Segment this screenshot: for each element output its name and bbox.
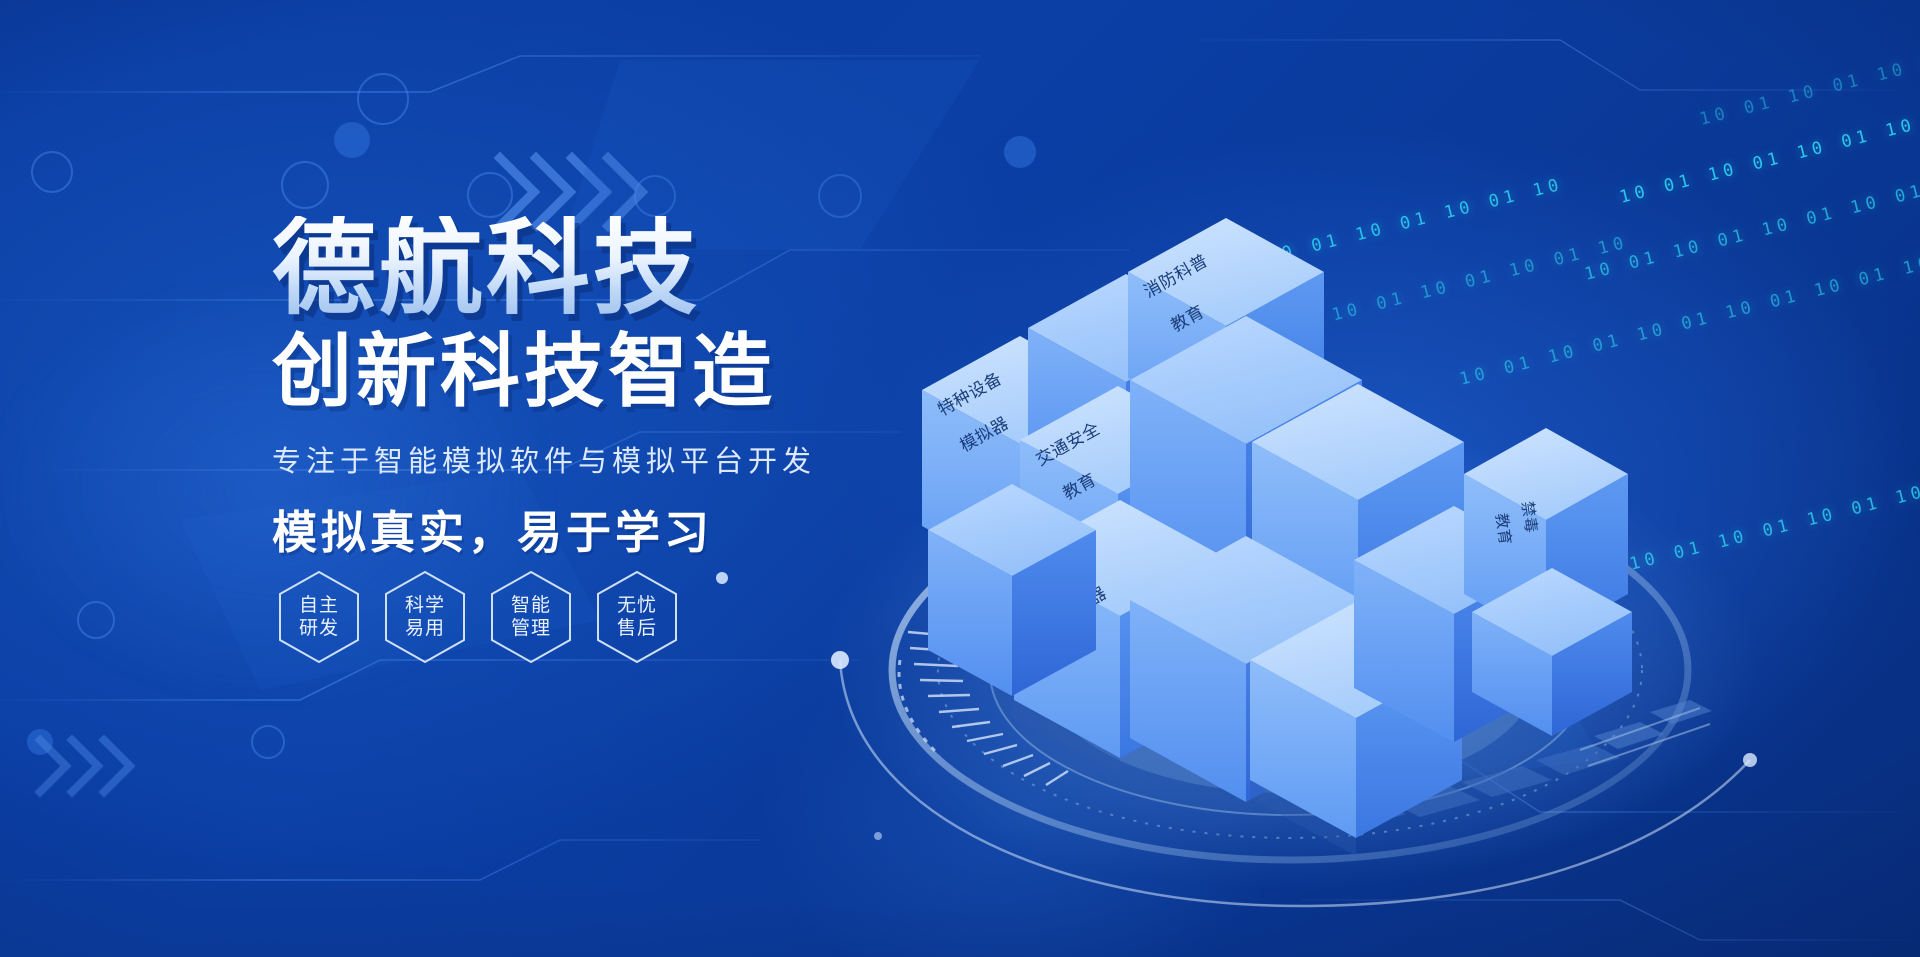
feature-badge-label: 无忧 售后 [617,594,657,640]
feature-badge-label: 智能 管理 [511,594,551,640]
feature-badge-label: 自主 研发 [299,594,339,640]
hero-banner: 10 01 10 01 10 01 10 01 10 01 10 10 01 1… [0,0,1920,957]
badge-line-1: 智能 [511,594,551,617]
badge-line-2: 研发 [299,617,339,640]
hero-copy: 德航科技 创新科技智造 专注于智能模拟软件与模拟平台开发 模拟真实，易于学习 [272,216,912,561]
badge-line-2: 管理 [511,617,551,640]
badge-line-1: 科学 [405,594,445,617]
badge-line-2: 易用 [405,617,445,640]
feature-badge-list: 自主 研发 科学 易用 智能 管理 [276,569,680,665]
feature-badge-worry-free-support[interactable]: 无忧 售后 [594,569,680,665]
hero-subline: 专注于智能模拟软件与模拟平台开发 [272,438,912,480]
feature-badge-smart-management[interactable]: 智能 管理 [488,569,574,665]
badge-line-1: 无忧 [617,594,657,617]
badge-line-2: 售后 [617,617,657,640]
feature-badge-independent-rd[interactable]: 自主 研发 [276,569,362,665]
hero-headline: 创新科技智造 [272,329,912,415]
badge-line-1: 自主 [299,594,339,617]
hero-slogan: 模拟真实，易于学习 [272,496,912,561]
page-title: 德航科技 [272,216,912,323]
feature-badge-scientific-easy[interactable]: 科学 易用 [382,569,468,665]
feature-badge-label: 科学 易用 [405,594,445,640]
